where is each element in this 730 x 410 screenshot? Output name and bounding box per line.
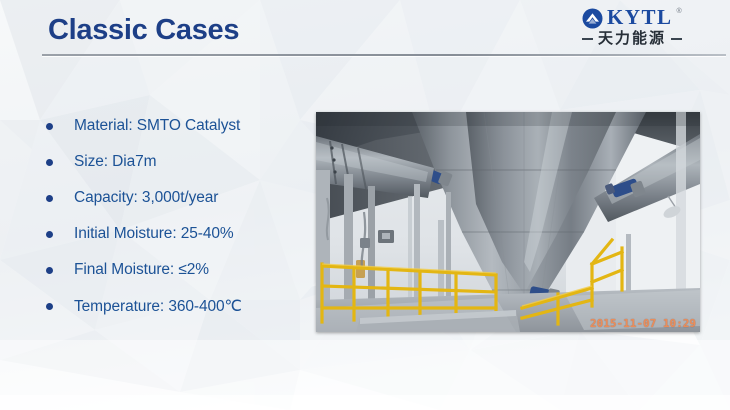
registered-trademark-icon: ®	[677, 8, 682, 15]
list-item-label: Initial Moisture: 25-40%	[74, 225, 234, 243]
logo-chinese-name: 天力能源	[598, 31, 666, 46]
case-photo: 2015-11-07 10:29	[316, 112, 700, 332]
list-item: Temperature: 360-400℃	[42, 288, 312, 324]
logo-dash-right	[671, 38, 682, 40]
logo-secondary-row: 天力能源	[582, 31, 718, 46]
page-title: Classic Cases	[48, 14, 239, 47]
specification-list: Material: SMTO Catalyst Size: Dia7m Capa…	[42, 108, 312, 324]
title-divider-highlight	[42, 56, 726, 57]
logo-primary-row: KYTL ®	[582, 6, 682, 30]
list-item: Capacity: 3,000t/year	[42, 180, 312, 216]
bullet-dot-icon	[46, 195, 53, 202]
bullet-dot-icon	[46, 159, 53, 166]
slide-canvas: Classic Cases KYTL ® 天力能源 Material:	[0, 0, 730, 410]
case-photo-image	[316, 112, 700, 332]
mountain-circle-icon	[582, 8, 603, 29]
bullet-dot-icon	[46, 267, 53, 274]
photo-timestamp: 2015-11-07 10:29	[590, 317, 696, 330]
list-item: Final Moisture: ≤2%	[42, 252, 312, 288]
list-item: Size: Dia7m	[42, 144, 312, 180]
list-item-label: Temperature: 360-400℃	[74, 297, 242, 316]
bullet-dot-icon	[46, 123, 53, 130]
list-item-label: Material: SMTO Catalyst	[74, 117, 240, 135]
bullet-dot-icon	[46, 303, 53, 310]
list-item-label: Capacity: 3,000t/year	[74, 189, 218, 207]
list-item: Material: SMTO Catalyst	[42, 108, 312, 144]
bullet-dot-icon	[46, 231, 53, 238]
list-item-label: Final Moisture: ≤2%	[74, 261, 209, 279]
list-item: Initial Moisture: 25-40%	[42, 216, 312, 252]
company-logo: KYTL ® 天力能源	[582, 6, 718, 52]
logo-dash-left	[582, 38, 593, 40]
list-item-label: Size: Dia7m	[74, 153, 156, 171]
logo-wordmark: KYTL	[607, 7, 673, 28]
